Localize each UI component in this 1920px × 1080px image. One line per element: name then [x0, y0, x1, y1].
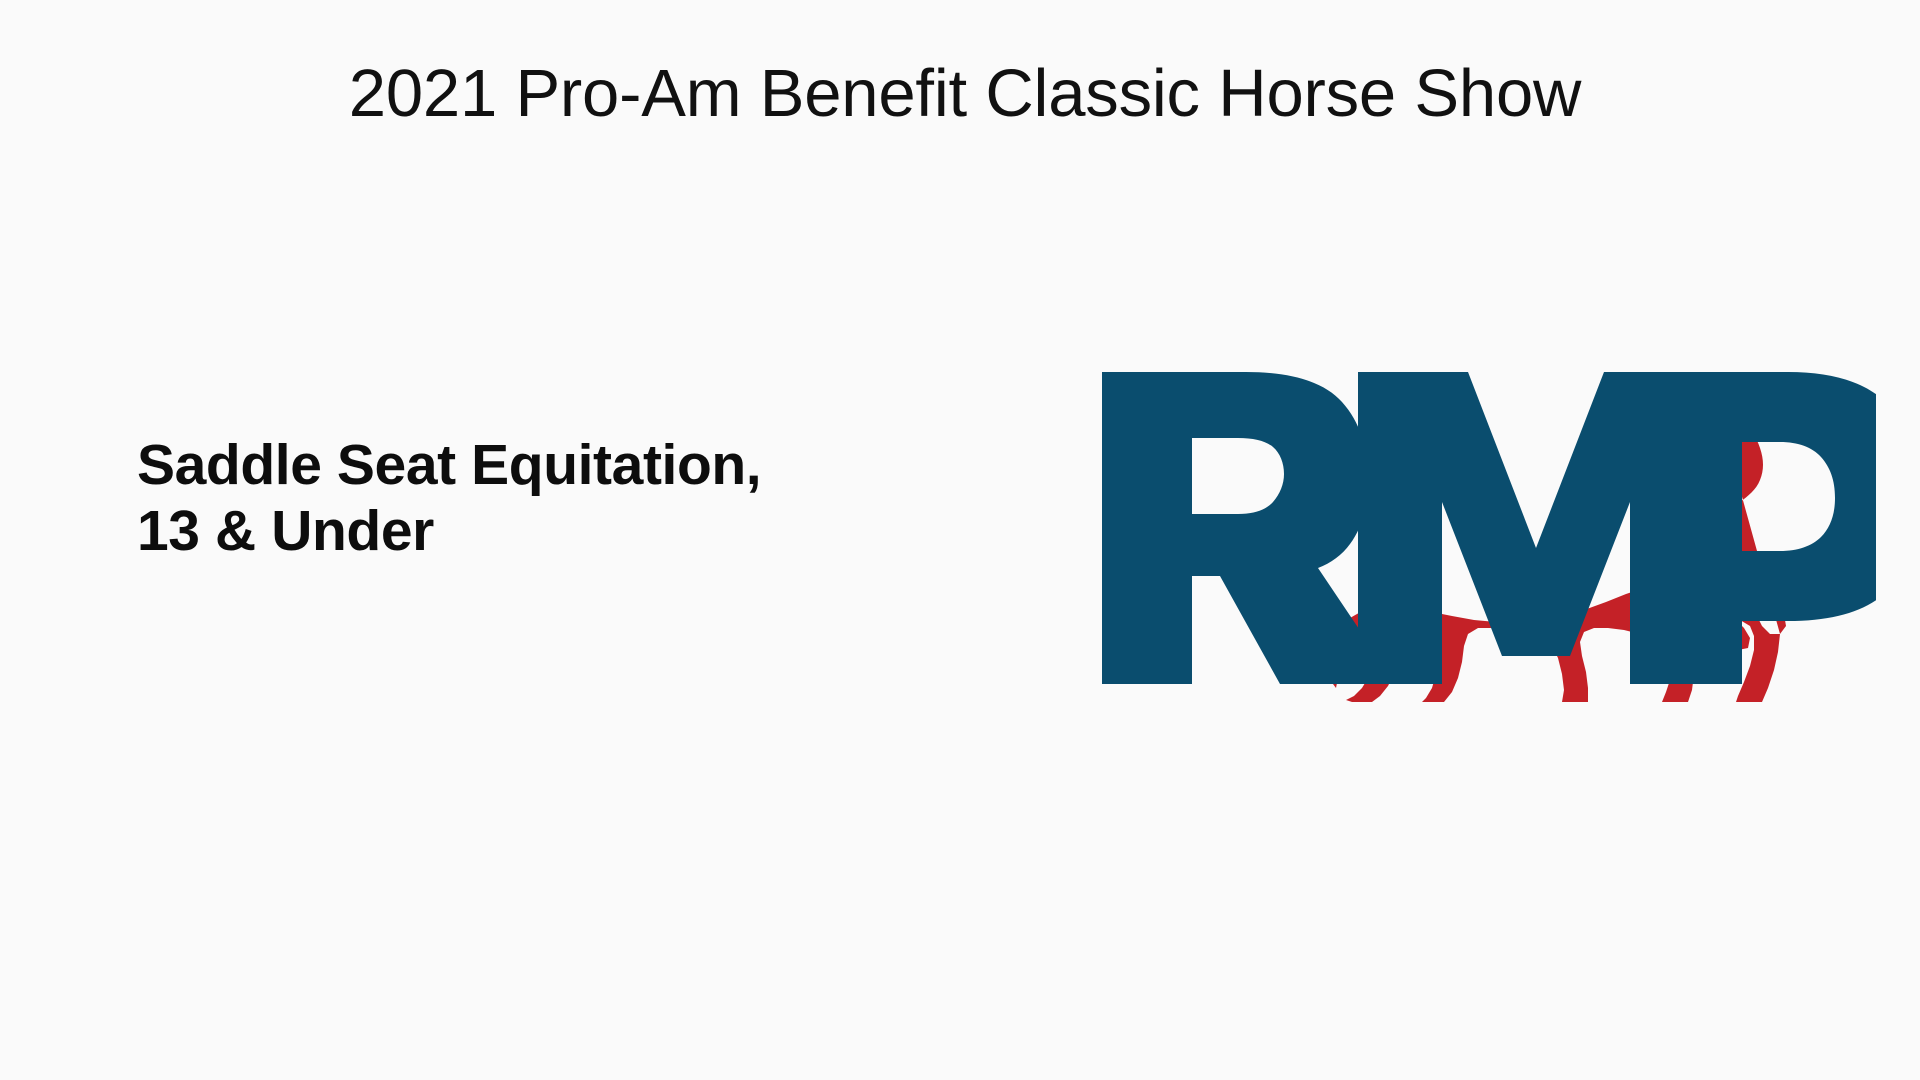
class-slide: 2021 Pro-Am Benefit Classic Horse Show S…: [0, 0, 1920, 1080]
class-name-line-2: 13 & Under: [137, 498, 1017, 564]
page-title: 2021 Pro-Am Benefit Classic Horse Show: [0, 56, 1920, 131]
rmp-logo: [1096, 362, 1876, 702]
class-name-block: Saddle Seat Equitation, 13 & Under: [137, 432, 1017, 564]
rmp-logo-svg: [1096, 362, 1876, 702]
logo-letter-r: [1102, 372, 1396, 684]
class-name-line-1: Saddle Seat Equitation,: [137, 432, 1017, 498]
